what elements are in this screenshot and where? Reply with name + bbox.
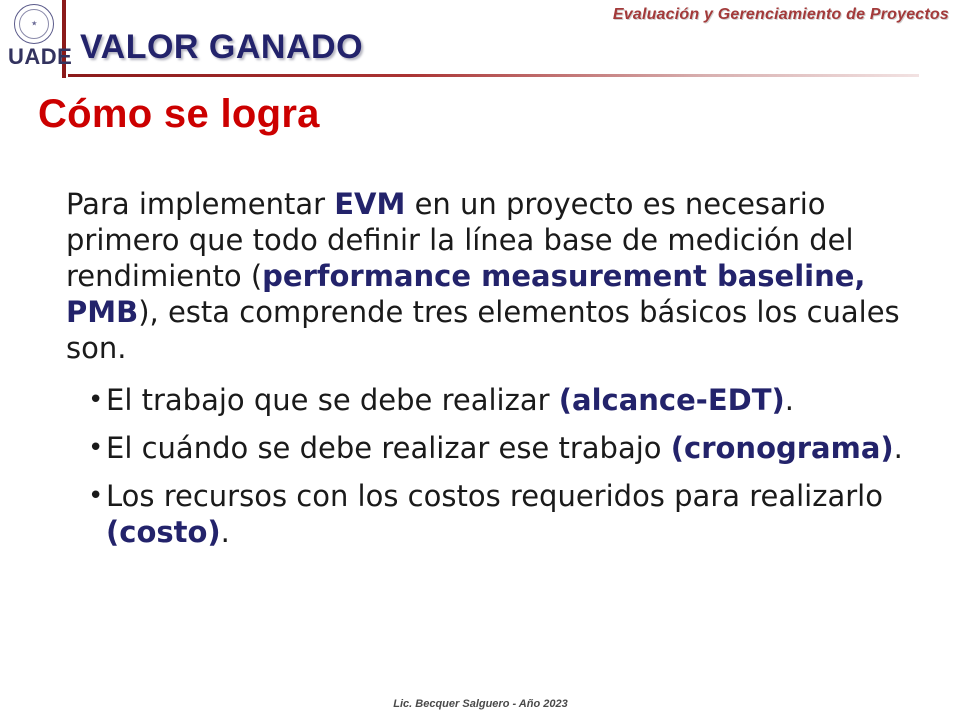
bullet-bold: (cronograma) [671,431,894,465]
bullet-tail: . [894,431,903,465]
intro-paragraph: Para implementar EVM en un proyecto es n… [66,186,946,366]
bullet-tail: . [785,383,794,417]
bullet-list: El trabajo que se debe realizar (alcance… [66,382,946,550]
uade-logo-text: UADE [8,44,60,70]
bullet-tail: . [221,515,230,549]
bullet-bold: (alcance-EDT) [559,383,785,417]
uade-seal-icon: ★ [14,4,54,44]
slide-title: VALOR GANADO [80,28,363,67]
bullet-text: El cuándo se debe realizar ese trabajo [106,431,671,465]
list-item: El cuándo se debe realizar ese trabajo (… [66,430,946,466]
paragraph-part-3: ), esta comprende tres elementos básicos… [66,295,900,365]
bullet-bold: (costo) [106,515,221,549]
paragraph-bold-evm: EVM [334,187,405,221]
list-item: Los recursos con los costos requeridos p… [66,478,946,550]
slide-footer: Lic. Becquer Salguero - Año 2023 [0,698,961,710]
list-item: El trabajo que se debe realizar (alcance… [66,382,946,418]
uade-logo: ★ UADE [8,2,60,76]
course-title: Evaluación y Gerenciamiento de Proyectos [613,6,949,24]
uade-seal-inner: ★ [31,21,37,28]
header-divider [68,74,919,77]
body-content: Para implementar EVM en un proyecto es n… [66,186,946,562]
slide-subtitle: Cómo se logra [38,92,320,137]
slide: ★ UADE Evaluación y Gerenciamiento de Pr… [0,0,961,720]
paragraph-part-1: Para implementar [66,187,334,221]
bullet-text: El trabajo que se debe realizar [106,383,559,417]
bullet-text: Los recursos con los costos requeridos p… [106,479,883,513]
